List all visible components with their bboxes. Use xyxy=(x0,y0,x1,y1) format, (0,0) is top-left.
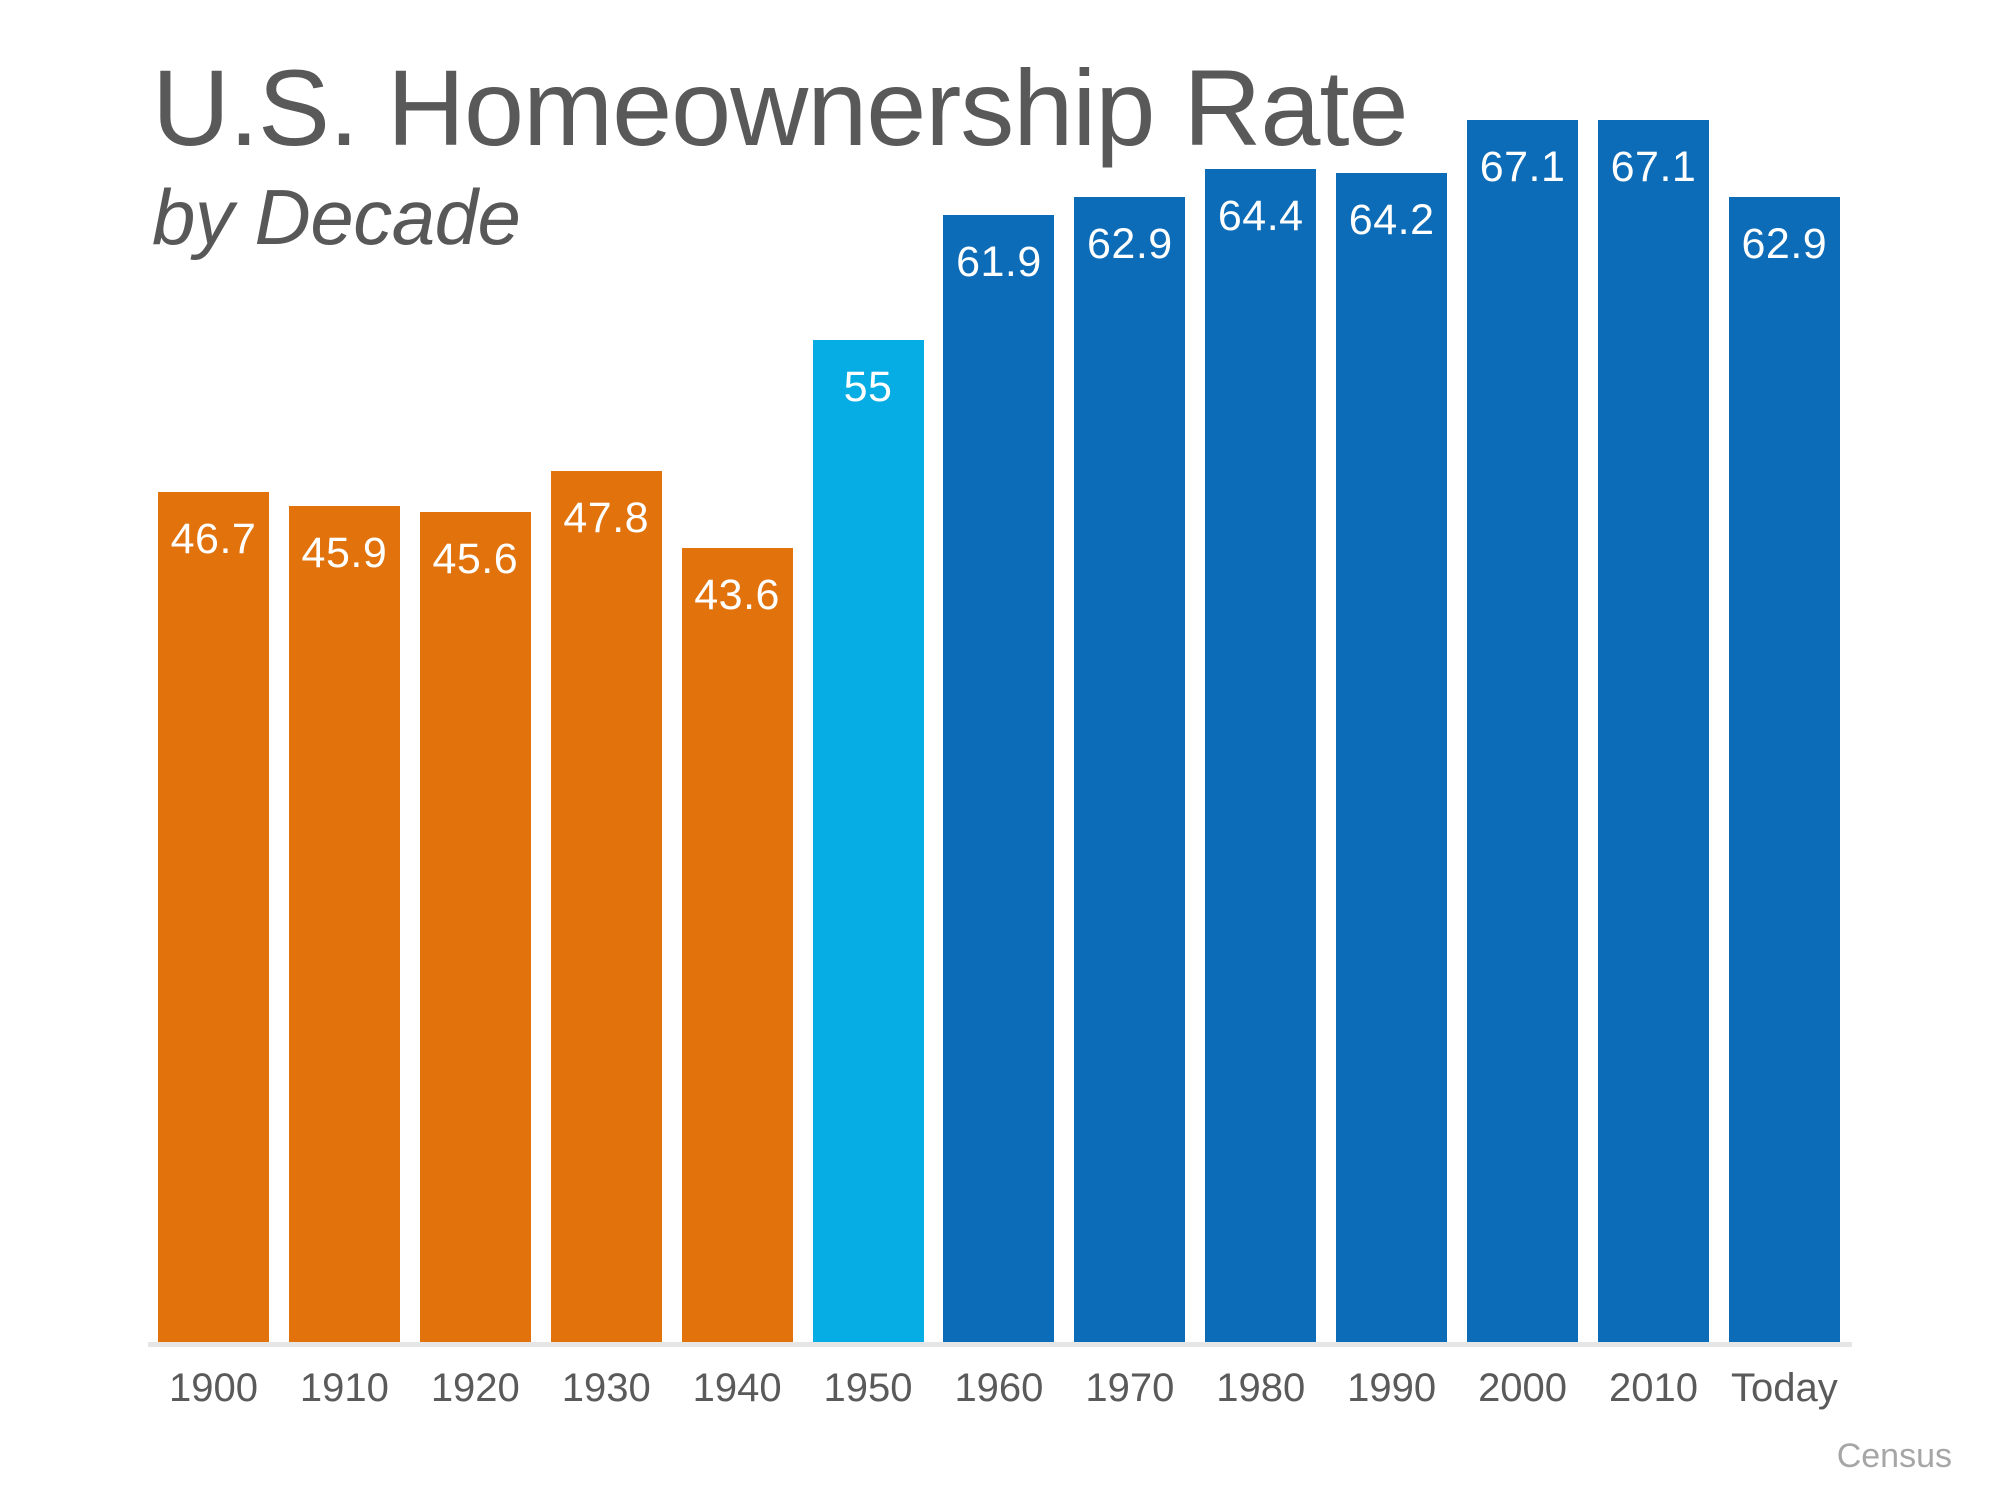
bar-slot: 55 xyxy=(813,120,924,1342)
bar-value-label: 47.8 xyxy=(551,497,662,540)
bar-2010[interactable]: 67.1 xyxy=(1598,120,1709,1342)
bar-1910[interactable]: 45.9 xyxy=(289,506,400,1342)
bar-slot: 43.6 xyxy=(682,120,793,1342)
x-axis-tick-labels: 1900191019201930194019501960197019801990… xyxy=(158,1358,1840,1418)
bar-2000[interactable]: 67.1 xyxy=(1467,120,1578,1342)
bar-slot: 62.9 xyxy=(1729,120,1840,1342)
source-attribution: Census xyxy=(1837,1437,1952,1476)
x-axis-label-2000: 2000 xyxy=(1467,1358,1578,1418)
bar-1920[interactable]: 45.6 xyxy=(420,512,531,1342)
bar-1970[interactable]: 62.9 xyxy=(1074,197,1185,1343)
bar-slot: 67.1 xyxy=(1467,120,1578,1342)
bar-value-label: 64.2 xyxy=(1336,199,1447,242)
x-axis-label-1940: 1940 xyxy=(682,1358,793,1418)
x-axis-label-1960: 1960 xyxy=(943,1358,1054,1418)
bar-1940[interactable]: 43.6 xyxy=(682,548,793,1342)
bar-value-label: 62.9 xyxy=(1074,223,1185,266)
x-axis-label-1920: 1920 xyxy=(420,1358,531,1418)
bar-1930[interactable]: 47.8 xyxy=(551,471,662,1342)
bar-value-label: 64.4 xyxy=(1205,195,1316,238)
bar-1950[interactable]: 55 xyxy=(813,340,924,1342)
bar-value-label: 62.9 xyxy=(1729,223,1840,266)
bar-slot: 64.4 xyxy=(1205,120,1316,1342)
bar-slot: 62.9 xyxy=(1074,120,1185,1342)
x-axis-label-1930: 1930 xyxy=(551,1358,662,1418)
chart-plot-area: 46.745.945.647.843.65561.962.964.464.267… xyxy=(158,120,1840,1342)
bar-value-label: 45.6 xyxy=(420,538,531,581)
bar-value-label: 61.9 xyxy=(943,241,1054,284)
bar-value-label: 43.6 xyxy=(682,574,793,617)
bar-1960[interactable]: 61.9 xyxy=(943,215,1054,1342)
x-axis-line xyxy=(148,1342,1852,1347)
x-axis-label-1970: 1970 xyxy=(1074,1358,1185,1418)
bar-slot: 45.6 xyxy=(420,120,531,1342)
bar-slot: 67.1 xyxy=(1598,120,1709,1342)
bar-series: 46.745.945.647.843.65561.962.964.464.267… xyxy=(158,120,1840,1342)
bar-1990[interactable]: 64.2 xyxy=(1336,173,1447,1342)
bar-slot: 45.9 xyxy=(289,120,400,1342)
bar-slot: 46.7 xyxy=(158,120,269,1342)
bar-slot: 64.2 xyxy=(1336,120,1447,1342)
x-axis-label-1900: 1900 xyxy=(158,1358,269,1418)
bar-today[interactable]: 62.9 xyxy=(1729,197,1840,1343)
x-axis-label-1980: 1980 xyxy=(1205,1358,1316,1418)
bar-value-label: 67.1 xyxy=(1598,146,1709,189)
bar-value-label: 46.7 xyxy=(158,518,269,561)
bar-1900[interactable]: 46.7 xyxy=(158,492,269,1342)
bar-value-label: 67.1 xyxy=(1467,146,1578,189)
bar-slot: 61.9 xyxy=(943,120,1054,1342)
x-axis-label-1910: 1910 xyxy=(289,1358,400,1418)
bar-value-label: 45.9 xyxy=(289,532,400,575)
bar-slot: 47.8 xyxy=(551,120,662,1342)
x-axis-label-1950: 1950 xyxy=(813,1358,924,1418)
x-axis-label-today: Today xyxy=(1729,1358,1840,1418)
bar-value-label: 55 xyxy=(813,366,924,409)
x-axis-label-1990: 1990 xyxy=(1336,1358,1447,1418)
x-axis-label-2010: 2010 xyxy=(1598,1358,1709,1418)
slide-canvas: U.S. Homeownership Rate by Decade 46.745… xyxy=(0,0,2000,1500)
bar-1980[interactable]: 64.4 xyxy=(1205,169,1316,1342)
